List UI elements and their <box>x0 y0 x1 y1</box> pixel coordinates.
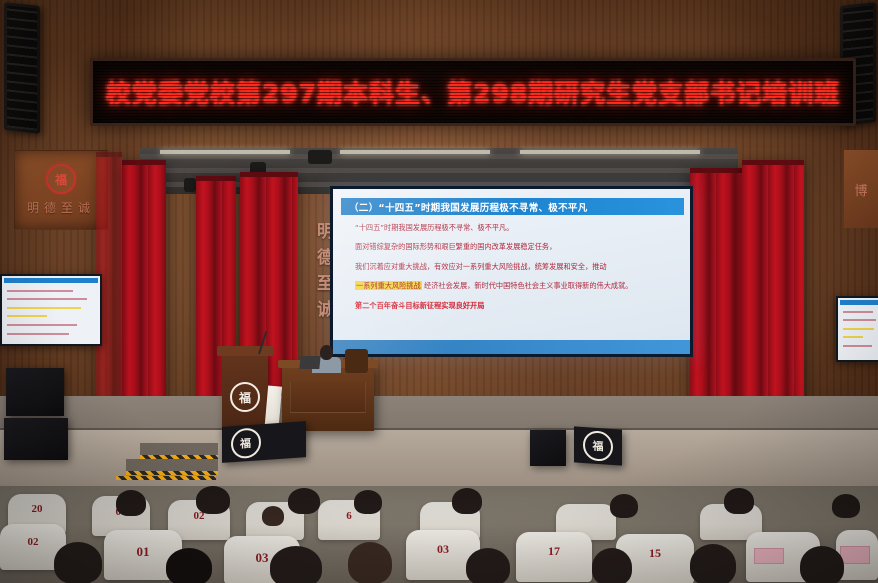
seat-placard <box>754 548 784 564</box>
seat-number: 02 <box>28 536 39 548</box>
monitor-text-line <box>7 298 87 300</box>
auditorium-scene: 福 明德至诚 博 校党委党校第297期本科生、第298期研究生党支部书记培训班 … <box>0 0 878 583</box>
presenter-chair <box>345 349 368 373</box>
slide-line-red: 第二个百年奋斗目标新征程实现良好开局 <box>355 301 676 311</box>
step-hazard-stripe <box>126 471 218 475</box>
slide-red-phrase: 第二个百年奋斗目标新征程实现良好开局 <box>355 301 484 310</box>
monitor-slide-title-bar <box>840 300 878 305</box>
desk-front-panel <box>290 381 366 413</box>
wall-plaque-right: 博 <box>844 150 878 228</box>
audience-area: 20 04 02 6 02 01 03 <box>0 486 878 583</box>
audience-head <box>452 488 482 514</box>
stage-steps <box>120 443 230 479</box>
audience-head <box>196 486 230 514</box>
seat-number: 01 <box>137 544 150 560</box>
side-monitor-right <box>836 296 878 362</box>
stage-wedge-speaker-right: 福 <box>574 426 622 465</box>
lectern: 福 <box>222 352 268 434</box>
audience-head <box>54 542 102 583</box>
slide-line: 一系列重大风险挑战 经济社会发展，新时代中国特色社会主义事业取得新的伟大成就。 <box>355 281 676 291</box>
seat-placard <box>840 546 870 564</box>
slide-highlight-phrase: 一系列重大风险挑战 <box>355 281 422 290</box>
seat-number: 15 <box>649 546 661 561</box>
monitor-text-line <box>7 290 73 292</box>
line-array-speaker-left <box>4 2 40 134</box>
audience-head <box>610 494 638 518</box>
calligraphy-left: 明德至诚 <box>300 222 332 326</box>
floor-subwoofer-left <box>6 368 64 416</box>
audience-head <box>592 548 632 583</box>
floor-subwoofer-left-lower <box>4 418 68 460</box>
monitor-highlight-line <box>843 328 874 330</box>
slide-footer-bar <box>333 340 690 354</box>
seat-number: 03 <box>256 550 269 566</box>
led-banner-text: 校党委党校第297期本科生、第298期研究生党支部书记培训班 <box>106 74 840 110</box>
stage-wedge-speaker-left: 福 <box>222 421 306 463</box>
ceiling-beam <box>140 168 738 173</box>
slide-line-plain: 经济社会发展，新时代中国特色社会主义事业取得新的伟大成就。 <box>424 281 632 290</box>
monitor-highlight-line <box>7 307 81 309</box>
audience-head <box>270 546 322 583</box>
stage-spotlight-icon <box>308 150 332 164</box>
lectern-emblem-icon: 福 <box>230 382 260 412</box>
audience-chair: 17 <box>516 532 592 582</box>
monitor-slide-title-bar <box>4 278 98 283</box>
slide-title: （二）“十四五”时期我国发展历程极不寻常、极不平凡 <box>341 198 684 215</box>
projection-screen: （二）“十四五”时期我国发展历程极不寻常、极不平凡 “十四五”时期我国发展历程极… <box>330 186 693 357</box>
slide-line-highlighted: 我们沉着应对重大挑战，有效应对一系列重大风险挑战，统筹发展和安全，推动 <box>355 262 676 272</box>
monitor-highlight-line <box>7 315 47 317</box>
lectern-top <box>217 346 273 356</box>
audience-head <box>288 488 320 514</box>
side-monitor-left <box>0 274 102 346</box>
seat-number: 20 <box>32 503 43 515</box>
side-monitor-right-screen <box>838 298 878 360</box>
monitor-text-line <box>843 319 876 321</box>
stage-curtain <box>742 160 804 406</box>
monitor-text-line <box>843 311 873 313</box>
ceiling-light-strip <box>340 150 490 154</box>
seat-number: 03 <box>437 542 449 557</box>
slide-line: 面对错综复杂的国际形势和艰巨繁重的国内改革发展稳定任务， <box>355 242 676 252</box>
stage-speaker-cabinet <box>530 430 566 466</box>
side-monitor-left-screen <box>2 276 100 344</box>
slide-line-plain: 我们沉着应对重大挑战，有效应对一系列重大风险挑战，统筹发展和安全，推动 <box>355 262 607 271</box>
floor-hazard-stripe <box>116 476 216 480</box>
monitor-text-line <box>7 333 69 335</box>
audience-head <box>690 544 736 583</box>
stage-spotlight-icon <box>184 178 196 192</box>
monitor-highlight-line <box>843 336 863 338</box>
monitor-text-line <box>7 324 77 326</box>
seat-number: 6 <box>346 510 352 522</box>
audience-head <box>466 548 510 583</box>
audience-head <box>348 542 392 583</box>
university-emblem-icon: 福 <box>46 164 76 194</box>
wedge-emblem-icon: 福 <box>583 430 613 462</box>
audience-head <box>262 506 284 526</box>
stage-curtain <box>122 160 166 408</box>
slide-line: “十四五”时期我国发展历程极不寻常、极不平凡。 <box>355 223 676 233</box>
audience-head <box>354 490 382 514</box>
audience-head <box>166 548 212 583</box>
presenter-head <box>320 345 333 360</box>
ceiling-beam <box>140 154 738 159</box>
audience-head <box>800 546 844 583</box>
wall-plaque-left: 福 明德至诚 <box>14 150 108 230</box>
seat-number: 17 <box>548 544 560 559</box>
plaque-motto-text: 明德至诚 <box>27 199 95 216</box>
audience-head <box>832 494 860 518</box>
ceiling-light-strip <box>160 150 290 154</box>
laptop-icon <box>299 356 320 369</box>
led-banner: 校党委党校第297期本科生、第298期研究生党支部书记培训班 <box>90 58 856 126</box>
monitor-text-line <box>843 345 872 347</box>
slide-surface: （二）“十四五”时期我国发展历程极不寻常、极不平凡 “十四五”时期我国发展历程极… <box>333 189 690 354</box>
audience-head <box>116 490 146 516</box>
ceiling-light-strip <box>520 150 700 154</box>
slide-body: “十四五”时期我国发展历程极不寻常、极不平凡。 面对错综复杂的国际形势和艰巨繁重… <box>355 223 676 320</box>
stage-curtain <box>690 168 742 402</box>
audience-head <box>724 488 754 514</box>
wedge-emblem-icon: 福 <box>231 427 261 459</box>
